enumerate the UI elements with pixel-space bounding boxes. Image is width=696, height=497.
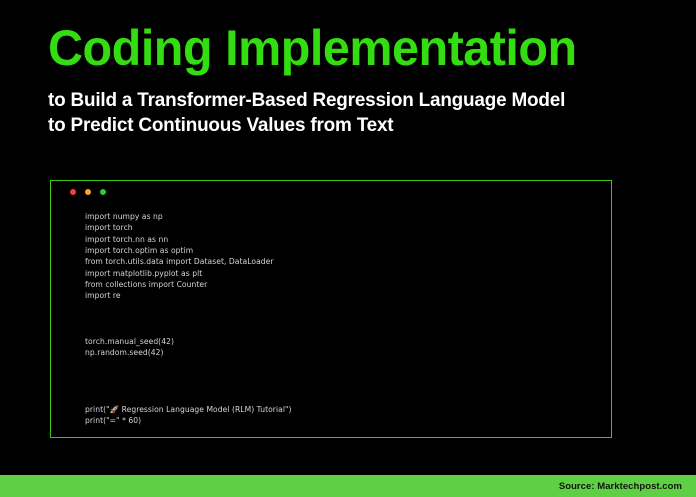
page-subtitle: to Build a Transformer-Based Regression … [48,88,649,138]
code-line-blank [85,324,611,335]
code-line: import torch.nn as nn [85,234,611,245]
maximize-dot-icon[interactable] [100,189,106,195]
code-line: torch.manual_seed(42) [85,336,611,347]
code-line: print("🚀 Regression Language Model (RLM)… [85,404,611,415]
code-line: import matplotlib.pyplot as plt [85,268,611,279]
code-window-titlebar [51,181,611,203]
code-line-blank [85,393,611,404]
slide-canvas: Coding Implementation to Build a Transfo… [0,0,696,497]
code-line: import torch.optim as optim [85,245,611,256]
code-line-blank [85,313,611,324]
code-line: import numpy as np [85,211,611,222]
code-line: import re [85,290,611,301]
code-line: from torch.utils.data import Dataset, Da… [85,256,611,267]
code-line: print("=" * 60) [85,415,611,426]
footer-bar: Source: Marktechpost.com [0,475,696,497]
code-line-blank [85,302,611,313]
source-attribution: Source: Marktechpost.com [559,481,696,492]
subtitle-line-2: to Predict Continuous Values from Text [48,113,649,138]
code-line-blank [85,358,611,369]
code-line-blank [85,370,611,381]
minimize-dot-icon[interactable] [85,189,91,195]
header: Coding Implementation to Build a Transfo… [48,22,668,138]
close-dot-icon[interactable] [70,189,76,195]
code-window: import numpy as np import torch import t… [50,180,612,438]
code-line-blank [85,381,611,392]
code-line: np.random.seed(42) [85,347,611,358]
code-line: import torch [85,222,611,233]
subtitle-line-1: to Build a Transformer-Based Regression … [48,88,649,113]
code-block: import numpy as np import torch import t… [51,203,611,427]
code-line: from collections import Counter [85,279,611,290]
page-title: Coding Implementation [48,22,649,74]
